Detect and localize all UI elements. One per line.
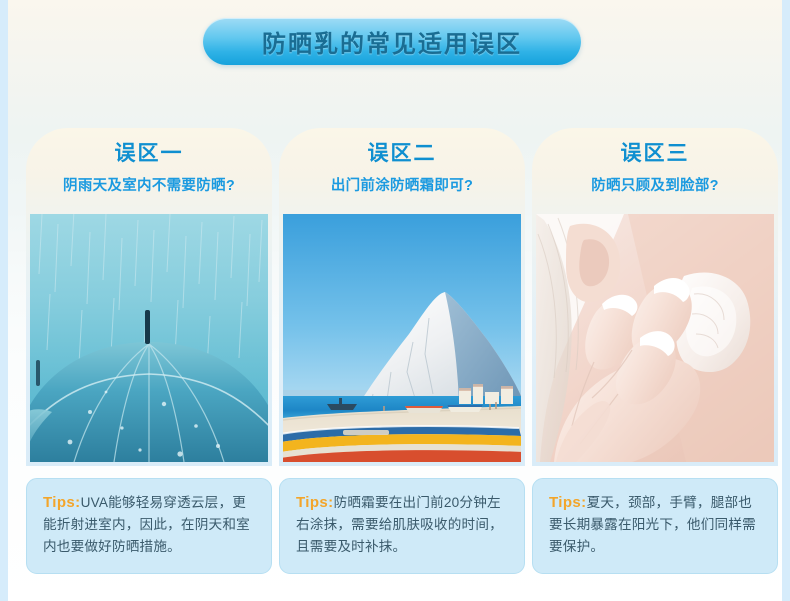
tip-box-2: Tips:防晒霜要在出门前20分钟左右涂抹，需要给肌肤吸收的时间，且需要及时补抹… [279, 478, 525, 574]
umbrella-in-rain-illustration [30, 214, 268, 462]
card-subtitle-3: 防晒只顾及到脸部? [591, 177, 719, 195]
page-title-banner: 防晒乳的常见适用误区 [203, 18, 581, 65]
tip-text-2: Tips:防晒霜要在出门前20分钟左右涂抹，需要给肌肤吸收的时间，且需要及时补抹… [296, 492, 510, 558]
misconception-cards-row: 误区一 阴雨天及室内不需要防晒? [26, 128, 780, 468]
applying-cream-illustration [536, 214, 774, 462]
page-surface: 防晒乳的常见适用误区 误区一 阴雨天及室内不需要防晒? [8, 0, 782, 601]
card-header-2: 误区二 出门前涂防晒霜即可? [279, 128, 525, 212]
foreground-boat [283, 426, 521, 462]
card-header-3: 误区三 防晒只顾及到脸部? [532, 128, 778, 212]
applying-cream-photo [536, 214, 774, 462]
promo-page: 防晒乳的常见适用误区 误区一 阴雨天及室内不需要防晒? [0, 0, 790, 601]
tip-label-3: Tips: [549, 494, 587, 511]
card-title-2: 误区二 [368, 140, 437, 168]
card-subtitle-2: 出门前涂防晒霜即可? [331, 177, 473, 195]
tips-row: Tips:UVA能够轻易穿透云层，更能折射进室内，因此，在阴天和室内也要做好防晒… [26, 478, 780, 574]
tip-label-1: Tips: [43, 494, 81, 511]
tip-box-1: Tips:UVA能够轻易穿透云层，更能折射进室内，因此，在阴天和室内也要做好防晒… [26, 478, 272, 574]
tip-label-2: Tips: [296, 494, 334, 511]
misconception-card-1: 误区一 阴雨天及室内不需要防晒? [26, 128, 272, 466]
card-subtitle-1: 阴雨天及室内不需要防晒? [63, 177, 235, 195]
tip-box-3: Tips:夏天，颈部，手臂，腿部也要长期暴露在阳光下，他们同样需要保护。 [532, 478, 778, 574]
card-title-1: 误区一 [115, 140, 184, 168]
beach-rock-illustration [283, 214, 521, 462]
umbrella-in-rain-photo [30, 214, 268, 462]
misconception-card-2: 误区二 出门前涂防晒霜即可? [279, 128, 525, 466]
misconception-card-3: 误区三 防晒只顾及到脸部? [532, 128, 778, 466]
tip-text-3: Tips:夏天，颈部，手臂，腿部也要长期暴露在阳光下，他们同样需要保护。 [549, 492, 763, 558]
card-title-3: 误区三 [621, 140, 690, 168]
page-title: 防晒乳的常见适用误区 [262, 24, 522, 59]
beach-rock-photo [283, 214, 521, 462]
card-header-1: 误区一 阴雨天及室内不需要防晒? [26, 128, 272, 212]
tip-text-1: Tips:UVA能够轻易穿透云层，更能折射进室内，因此，在阴天和室内也要做好防晒… [43, 492, 257, 558]
